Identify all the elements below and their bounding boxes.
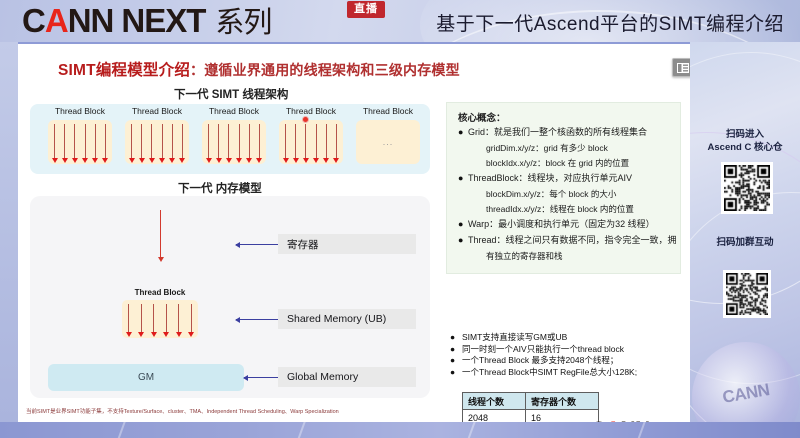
thread-block: ... <box>356 120 420 164</box>
connector-global <box>244 377 278 378</box>
concept-item: ●ThreadBlock：线程块，对应执行单元AIV <box>458 172 632 184</box>
concept-text: ThreadBlock：线程块，对应执行单元AIV <box>468 173 632 183</box>
thread-block-label: Thread Block <box>348 106 428 116</box>
connector-register <box>236 244 278 245</box>
slide-footnote: 当前SIMT是业界SIMT功能子集，不支持Texture/Surface、clu… <box>26 408 686 416</box>
thread-arrow <box>128 304 129 333</box>
concept-item: ●Warp：最小调度和执行单元（固定为32 线程） <box>458 218 655 230</box>
note-item: ●同一时刻一个AIV只能执行一个thread block <box>450 344 637 356</box>
thread-arrows <box>131 124 183 159</box>
arch-heading: 下一代 SIMT 线程架构 <box>174 86 288 102</box>
concept-item: ●Grid：就是我们一整个核函数的所有线程集合 <box>458 126 647 138</box>
thread-arrow <box>208 124 209 159</box>
slide-canvas: SIMT编程模型介绍：遵循业界通用的线程架构和三级内存模型 下一代 SIMT 线… <box>18 44 690 422</box>
memory-label-shared: Shared Memory (UB) <box>278 309 416 329</box>
banner-title: 基于下一代Ascend平台的SIMT编程介绍 <box>436 9 784 36</box>
thread-arrow <box>249 124 250 159</box>
thread-arrow <box>336 124 337 159</box>
table-header-row: 线程个数 寄存器个数 <box>463 393 599 410</box>
concept-subitem: blockDim.x/y/z：每个 block 的大小 <box>486 188 616 200</box>
memory-label-register: 寄存器 <box>278 234 416 254</box>
core-concepts-title: 核心概念： <box>458 110 506 124</box>
thread-arrow <box>182 124 183 159</box>
thread-arrow <box>316 124 317 159</box>
bullet-icon: ● <box>450 355 462 367</box>
concept-subitem: blockIdx.x/y/z：block 在 grid 内的位置 <box>486 157 629 169</box>
note-text: 一个Thread Block 最多支持2048个线程； <box>462 355 618 367</box>
concept-subitem: 有独立的寄存器和栈 <box>486 250 563 262</box>
register-thread-arrow <box>160 210 161 258</box>
thread-arrows <box>54 124 106 159</box>
thread-arrow <box>305 124 306 159</box>
notes-list: ●SIMT支持直接读写GM或UB●同一时刻一个AIV只能执行一个thread b… <box>450 332 637 378</box>
thread-arrow <box>191 304 192 333</box>
thread-arrow <box>172 124 173 159</box>
qr1-caption-line1: 扫码进入 <box>690 128 800 141</box>
thread-arrow <box>131 124 132 159</box>
connector-shared <box>236 319 278 320</box>
concept-text: blockIdx.x/y/z：block 在 grid 内的位置 <box>486 158 629 168</box>
thread-block-ellipsis: ... <box>356 137 420 147</box>
thread-arrow <box>239 124 240 159</box>
screen: CANNNEXT系列 直播 基于下一代Ascend平台的SIMT编程介绍 SIM… <box>0 0 800 438</box>
thread-arrow <box>105 124 106 159</box>
live-badge: 直播 <box>347 1 385 18</box>
thread-block <box>279 120 343 164</box>
thread-architecture-panel: Thread BlockThread BlockThread BlockThre… <box>30 104 430 174</box>
thread-arrow <box>95 124 96 159</box>
thread-block <box>202 120 266 164</box>
gm-box: GM <box>48 364 244 391</box>
right-rail: 扫码进入 Ascend C 核心仓 扫码加群互动 CANN <box>690 42 800 438</box>
concept-text: Warp：最小调度和执行单元（固定为32 线程） <box>468 219 655 229</box>
memory-thread-block-label: Thread Block <box>112 288 208 297</box>
memory-thread-block <box>122 300 198 338</box>
qr1-caption: 扫码进入 Ascend C 核心仓 <box>690 128 800 154</box>
thread-arrow <box>166 304 167 333</box>
left-side-strip <box>0 42 18 422</box>
bullet-icon: ● <box>458 126 468 138</box>
qr2-caption: 扫码加群互动 <box>690 236 800 249</box>
qr1-caption-line2: Ascend C 核心仓 <box>690 141 800 154</box>
bullet-icon: ● <box>458 234 468 246</box>
qr-code-group-chat[interactable] <box>723 270 771 318</box>
thread-block <box>48 120 112 164</box>
thread-block-label: Thread Block <box>271 106 351 116</box>
logo-series-text: 系列 <box>215 7 271 39</box>
qr2-caption-line1: 扫码加群互动 <box>690 236 800 249</box>
memory-heading: 下一代 内存模型 <box>178 180 262 196</box>
note-text: 同一时刻一个AIV只能执行一个thread block <box>462 344 624 356</box>
concept-text: 有独立的寄存器和栈 <box>486 251 563 261</box>
thread-arrow <box>54 124 55 159</box>
slide-layout-menu-button[interactable] <box>672 58 690 77</box>
logo-cann-text: CANN <box>22 2 113 39</box>
note-item: ●一个Thread Block 最多支持2048个线程； <box>450 355 637 367</box>
slide-title-sep: ： <box>190 62 204 78</box>
thread-arrow <box>285 124 286 159</box>
thread-arrow <box>141 124 142 159</box>
bullet-icon: ● <box>450 332 462 344</box>
bullet-icon: ● <box>450 344 462 356</box>
concept-text: Thread：线程之间只有数据不同，指令完全一致，拥 <box>468 235 677 245</box>
thread-arrow <box>74 124 75 159</box>
thread-arrow <box>85 124 86 159</box>
thread-arrow <box>64 124 65 159</box>
concept-text: blockDim.x/y/z：每个 block 的大小 <box>486 189 616 199</box>
slide-title-main: SIMT编程模型介绍 <box>58 62 190 79</box>
bottom-strip <box>0 422 800 438</box>
bullet-icon: ● <box>458 218 468 230</box>
thread-block-label: Thread Block <box>117 106 197 116</box>
slide-title-sub: 遵循业界通用的线程架构和三级内存模型 <box>204 62 460 78</box>
thread-arrows <box>208 124 260 159</box>
cursor-pointer-dot <box>302 116 309 123</box>
thread-block-label: Thread Block <box>40 106 120 116</box>
bullet-icon: ● <box>458 172 468 184</box>
memory-label-global: Global Memory <box>278 367 416 387</box>
bullet-icon: ● <box>450 367 462 379</box>
cann-next-logo: CANNNEXT系列 <box>22 2 271 42</box>
thread-arrow <box>218 124 219 159</box>
concept-text: Grid：就是我们一整个核函数的所有线程集合 <box>468 127 647 137</box>
note-item: ●SIMT支持直接读写GM或UB <box>450 332 637 344</box>
qr-code-ascend-c-repo[interactable] <box>721 162 773 214</box>
thread-arrow <box>228 124 229 159</box>
table-header-threads: 线程个数 <box>463 393 526 410</box>
thread-arrow <box>153 304 154 333</box>
table-header-registers: 寄存器个数 <box>526 393 599 410</box>
layout-list-icon <box>677 63 689 73</box>
thread-arrow <box>178 304 179 333</box>
memory-model-panel: Thread Block GM 寄存器 Shared Memory (UB) G… <box>30 196 430 398</box>
note-item: ●一个Thread Block中SIMT RegFile总大小128K; <box>450 367 637 379</box>
thread-arrow <box>259 124 260 159</box>
thread-arrow <box>151 124 152 159</box>
thread-block <box>125 120 189 164</box>
note-text: SIMT支持直接读写GM或UB <box>462 332 567 344</box>
concept-subitem: threadIdx.x/y/z：线程在 block 内的位置 <box>486 203 634 215</box>
thread-arrow <box>326 124 327 159</box>
concept-text: gridDim.x/y/z：grid 有多少 block <box>486 143 608 153</box>
thread-arrow <box>141 304 142 333</box>
top-banner: CANNNEXT系列 直播 基于下一代Ascend平台的SIMT编程介绍 <box>0 0 800 42</box>
note-text: 一个Thread Block中SIMT RegFile总大小128K; <box>462 367 637 379</box>
concept-text: threadIdx.x/y/z：线程在 block 内的位置 <box>486 204 634 214</box>
thread-arrow <box>295 124 296 159</box>
thread-block-label: Thread Block <box>194 106 274 116</box>
concept-subitem: gridDim.x/y/z：grid 有多少 block <box>486 142 608 154</box>
thread-register-table: 线程个数 寄存器个数 20481610243251264 <box>462 392 599 422</box>
thread-arrows <box>285 124 337 159</box>
slide-title: SIMT编程模型介绍：遵循业界通用的线程架构和三级内存模型 <box>58 58 460 80</box>
concept-item: ●Thread：线程之间只有数据不同，指令完全一致，拥 <box>458 234 677 246</box>
logo-next-text: NEXT <box>121 2 205 39</box>
thread-arrow <box>162 124 163 159</box>
